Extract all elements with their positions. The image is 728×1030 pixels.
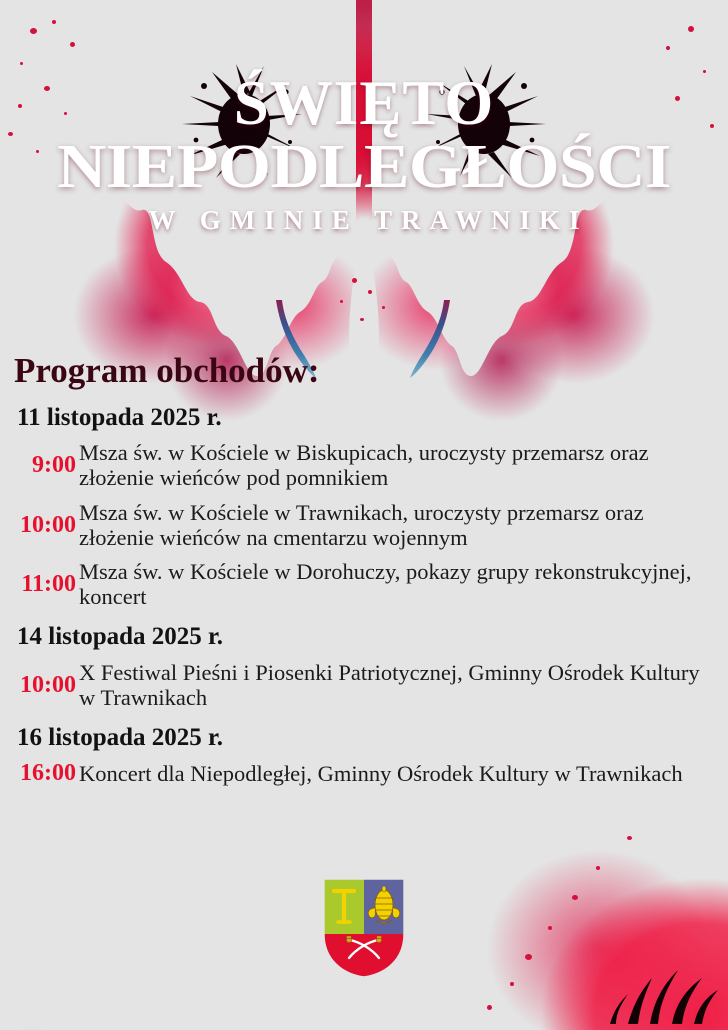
watercolour-wash-bottom-left (0, 1000, 50, 1030)
program-item-description: Msza św. w Kościele w Biskupicach, urocz… (79, 440, 700, 490)
program-item-description: Msza św. w Kościele w Dorohuczy, pokazy … (79, 559, 700, 609)
coat-of-arms-container (0, 878, 728, 978)
day-heading: 11 listopada 2025 r. (0, 404, 728, 432)
program-item-description: Msza św. w Kościele w Trawnikach, uroczy… (79, 500, 700, 550)
splatter-dot (52, 20, 56, 24)
program-item: 10:00 Msza św. w Kościele w Trawnikach, … (0, 500, 728, 550)
program-item: 11:00 Msza św. w Kościele w Dorohuczy, p… (0, 559, 728, 609)
program-heading: Program obchodów: (0, 352, 728, 390)
splatter-dot (368, 290, 372, 294)
day-heading: 16 listopada 2025 r. (0, 724, 728, 752)
splatter-dot (596, 866, 600, 870)
splatter-dot (70, 42, 75, 47)
splatter-dot (487, 1005, 492, 1010)
splatter-dot (352, 278, 357, 283)
title-subtitle-gmina: W GMINIE TRAWNIKI (0, 207, 728, 234)
program-item: 16:00 Koncert dla Niepodległej, Gminny O… (0, 761, 728, 786)
splatter-dot (688, 26, 694, 32)
splatter-dot (510, 982, 514, 986)
splatter-dot (360, 318, 364, 321)
splatter-dot (382, 306, 385, 309)
splatter-dot (703, 70, 706, 73)
poster-title: ŚWIĘTO NIEPODLEGŁOŚCI W GMINIE TRAWNIKI (0, 74, 728, 234)
title-line-niepodleglosci: NIEPODLEGŁOŚCI (0, 136, 728, 199)
program-section: Program obchodów: 11 listopada 2025 r. 9… (0, 352, 728, 786)
program-item: 10:00 X Festiwal Pieśni i Piosenki Patri… (0, 660, 728, 710)
program-item-time: 16:00 (0, 761, 79, 785)
program-item-description: Koncert dla Niepodległej, Gminny Ośrodek… (79, 761, 700, 786)
day-heading: 14 listopada 2025 r. (0, 623, 728, 651)
title-line-swieto: ŚWIĘTO (0, 74, 728, 134)
program-item: 9:00 Msza św. w Kościele w Biskupicach, … (0, 440, 728, 490)
program-item-description: X Festiwal Pieśni i Piosenki Patriotyczn… (79, 660, 700, 710)
bloom-highlight-left (150, 230, 300, 350)
coat-of-arms-icon (323, 878, 405, 978)
splatter-dot (340, 300, 343, 303)
program-item-time: 10:00 (0, 513, 79, 537)
splatter-dot (30, 28, 37, 34)
poster-canvas: ŚWIĘTO NIEPODLEGŁOŚCI W GMINIE TRAWNIKI … (0, 0, 728, 1030)
program-item-time: 11:00 (0, 572, 79, 596)
bloom-highlight-right (428, 230, 578, 350)
program-item-time: 10:00 (0, 673, 79, 697)
program-item-time: 9:00 (0, 453, 79, 477)
splatter-dot (20, 62, 23, 65)
splatter-dot (666, 46, 670, 50)
splatter-dot (627, 836, 632, 840)
